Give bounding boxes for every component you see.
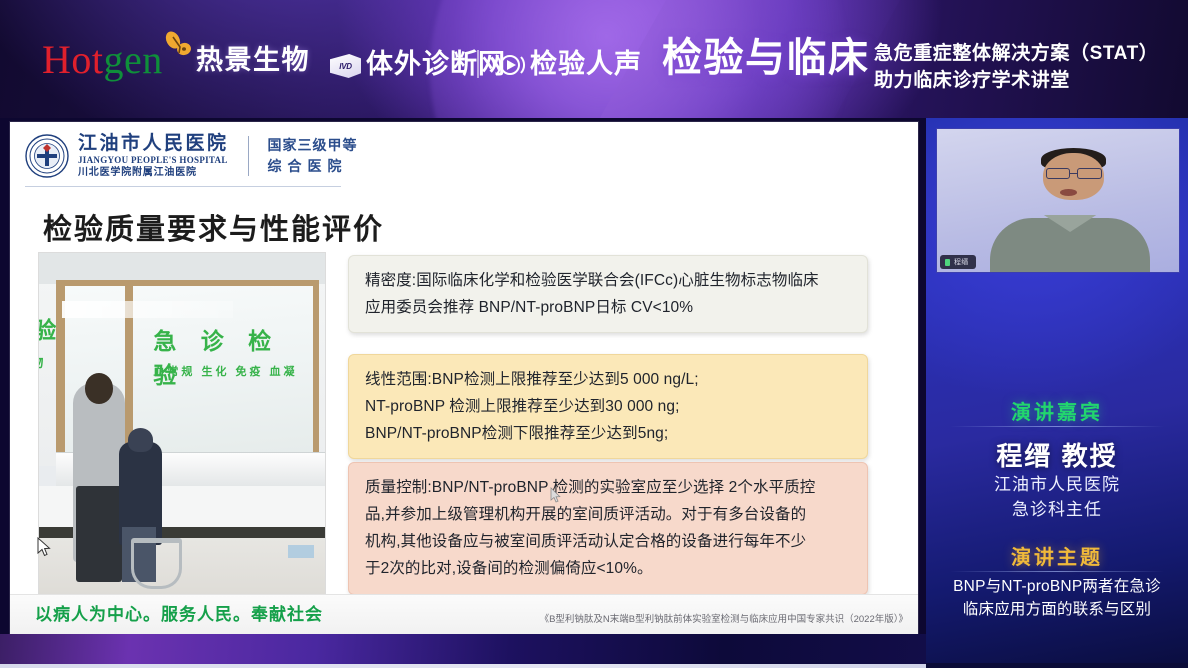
- bottom-decor-strip: [0, 634, 926, 668]
- precision-callout-box: 精密度:国际临床化学和检验医学联合会(IFCc)心脏生物标志物临床 应用委员会推…: [348, 255, 868, 333]
- guest-section-heading: 演讲嘉宾: [926, 396, 1188, 425]
- talk-topic: BNP与NT-proBNP两者在急诊 临床应用方面的联系与区别: [926, 576, 1188, 622]
- photo-sign-partial: 验: [38, 311, 61, 345]
- photo-sign-sub: 血常规 生化 免疫 血凝: [153, 363, 297, 379]
- ivd-badge-text: IVD: [339, 62, 351, 71]
- video-participant-label: 程缙: [940, 255, 976, 269]
- photo-sign-main: 急 诊 检 验: [153, 322, 325, 390]
- hotgen-wordmark-part1: Hot: [42, 37, 104, 82]
- logo-divider: [477, 50, 479, 78]
- topic-section-heading: 演讲主题: [926, 541, 1188, 570]
- hospital-lab-photo: 验 物 急 诊 检 验 血常规 生化 免疫 血凝: [38, 252, 326, 597]
- hospital-name-block: 江油市人民医院 JIANGYOU PEOPLE'S HOSPITAL 川北医学院…: [78, 134, 229, 178]
- hotgen-cn-name: 热景生物: [196, 47, 310, 74]
- hotgen-wordmark-part2: gen: [104, 37, 163, 82]
- butterfly-icon: [160, 31, 194, 63]
- webinar-player-window: Hotgen 热景生物 IVD 体外诊断网 检验人声 检验与临床 急危重症整体解…: [0, 0, 1188, 668]
- join-group-cta[interactable]: 扫码入群 深入交流 ●●: [926, 663, 1188, 668]
- speaker-name: 程缙 教授: [926, 436, 1188, 473]
- topic-section-rule: [950, 571, 1164, 572]
- hospital-seal-icon: [25, 134, 69, 178]
- ivd-badge-icon: IVD: [330, 54, 361, 78]
- mouse-cursor-primary: [37, 537, 51, 557]
- hospital-logo: 江油市人民医院 JIANGYOU PEOPLE'S HOSPITAL 川北医学院…: [25, 134, 358, 178]
- hospital-slogan: 以病人为中心。服务人民。奉献社会: [35, 600, 323, 625]
- slide-title: 检验质量要求与性能评价: [43, 206, 384, 248]
- presentation-slide[interactable]: 江油市人民医院 JIANGYOU PEOPLE'S HOSPITAL 川北医学院…: [10, 122, 918, 634]
- qc-line-1: 质量控制:BNP/NT-proBNP 检测的实验室应至少选择 2个水平质控: [365, 474, 853, 501]
- slide-citation: 《B型利钠肽及N末端B型利钠肽前体实验室检测与临床应用中国专家共识（2022年版…: [540, 611, 908, 625]
- talk-topic-line2: 临床应用方面的联系与区别: [926, 599, 1188, 622]
- speaker-affiliation-line1: 江油市人民医院: [926, 473, 1188, 498]
- speaker-affiliation-line2: 急诊科主任: [926, 498, 1188, 523]
- hospital-logo-underline: [25, 186, 341, 187]
- qc-line-3: 机构,其他设备应与被室间质评活动认定合格的设备进行每年不少: [365, 528, 853, 555]
- linear-line-3: BNP/NT-proBNP检测下限推荐至少达到5ng;: [365, 420, 853, 447]
- hospital-affiliate-cn: 川北医学院附属江油医院: [78, 168, 229, 178]
- talk-topic-line1: BNP与NT-proBNP两者在急诊: [926, 576, 1188, 599]
- hospital-name-en: JIANGYOU PEOPLE'S HOSPITAL: [78, 156, 229, 165]
- event-banner: Hotgen 热景生物 IVD 体外诊断网 检验人声 检验与临床 急危重症整体解…: [0, 0, 1188, 118]
- qc-line-4: 于2次的比对,设备间的检测偏倚应<10%。: [365, 555, 853, 582]
- hotgen-wordmark: Hotgen: [42, 40, 163, 80]
- linear-line-1: 线性范围:BNP检测上限推荐至少达到5 000 ng/L;: [365, 366, 853, 393]
- precision-line-1: 精密度:国际临床化学和检验医学联合会(IFCc)心脏生物标志物临床: [365, 267, 853, 294]
- photo-sign-partial2: 物: [38, 352, 45, 371]
- linear-line-2: NT-proBNP 检测上限推荐至少达到30 000 ng;: [365, 393, 853, 420]
- hospital-name-cn: 江油市人民医院: [78, 134, 229, 153]
- speaker-affiliation: 江油市人民医院 急诊科主任: [926, 473, 1188, 522]
- hospital-logo-divider: [248, 136, 249, 176]
- ivd-site-name: 体外诊断网: [366, 51, 506, 78]
- hospital-grade-line2: 综合医院: [268, 156, 358, 177]
- banner-title: 检验与临床: [662, 38, 870, 78]
- qc-line-2: 品,并参加上级管理机构开展的室间质评活动。对于有多台设备的: [365, 501, 853, 528]
- speaker-sidebar: 程缙 演讲嘉宾 程缙 教授 江油市人民医院 急诊科主任 演讲主题 BNP与NT-…: [926, 118, 1188, 668]
- speaker-video-tile[interactable]: 程缙: [936, 128, 1180, 273]
- banner-subtitle: 急危重症整体解决方案（STAT） 助力临床诊疗学术讲堂: [874, 41, 1158, 95]
- hospital-grade-block: 国家三级甲等 综合医院: [268, 135, 358, 177]
- banner-subtitle-line2: 助力临床诊疗学术讲堂: [874, 68, 1158, 95]
- quality-control-callout-box: 质量控制:BNP/NT-proBNP 检测的实验室应至少选择 2个水平质控 品,…: [348, 462, 868, 595]
- sound-wave-icon: [488, 52, 526, 78]
- video-participant-name: 程缙: [954, 257, 969, 267]
- mic-level-icon: [945, 259, 950, 266]
- voice-brand-name: 检验人声: [530, 51, 642, 78]
- precision-line-2: 应用委员会推荐 BNP/NT-proBNP日标 CV<10%: [365, 294, 853, 321]
- hospital-grade-line1: 国家三级甲等: [268, 135, 358, 156]
- mouse-cursor-secondary: [550, 487, 561, 503]
- banner-subtitle-line1: 急危重症整体解决方案（STAT）: [874, 41, 1158, 68]
- guest-section-rule: [950, 426, 1164, 427]
- linear-range-callout-box: 线性范围:BNP检测上限推荐至少达到5 000 ng/L; NT-proBNP …: [348, 354, 868, 459]
